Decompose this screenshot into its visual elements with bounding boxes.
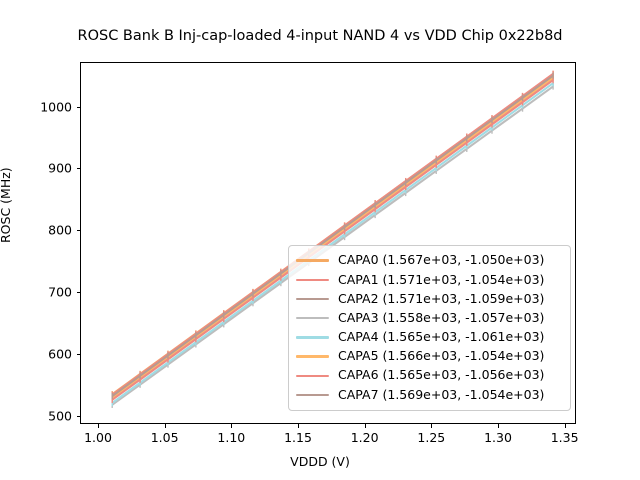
- y-axis-label: ROSC (MHz): [0, 167, 13, 243]
- x-tick-label: 1.20: [351, 430, 379, 445]
- legend-color-swatch: [296, 317, 329, 319]
- legend-label: CAPA1 (1.571e+03, -1.054e+03): [338, 274, 544, 287]
- x-tick-mark: [231, 424, 232, 428]
- legend-color-swatch: [296, 336, 329, 338]
- x-tick-mark: [498, 424, 499, 428]
- chart-title: ROSC Bank B Inj-cap-loaded 4-input NAND …: [0, 28, 640, 44]
- legend-item-capa2[interactable]: CAPA2 (1.571e+03, -1.059e+03): [296, 289, 562, 308]
- legend-color-swatch: [296, 394, 329, 396]
- x-tick-label: 1.00: [84, 430, 112, 445]
- y-tick-label: 500: [28, 408, 72, 423]
- x-tick-label: 1.30: [484, 430, 512, 445]
- legend-color-swatch: [296, 298, 329, 300]
- y-tick-label: 700: [28, 285, 72, 300]
- x-tick-label: 1.25: [417, 430, 445, 445]
- y-tick-label: 900: [28, 161, 72, 176]
- x-tick-mark: [565, 424, 566, 428]
- y-tick-label: 600: [28, 347, 72, 362]
- legend-label: CAPA5 (1.566e+03, -1.054e+03): [338, 350, 544, 363]
- x-tick-mark: [365, 424, 366, 428]
- x-tick-mark: [165, 424, 166, 428]
- legend-label: CAPA2 (1.571e+03, -1.059e+03): [338, 293, 544, 306]
- legend-color-swatch: [296, 355, 329, 357]
- x-tick-label: 1.35: [551, 430, 579, 445]
- x-tick-label: 1.15: [284, 430, 312, 445]
- x-tick-mark: [298, 424, 299, 428]
- y-tick-label: 1000: [28, 99, 72, 114]
- legend-item-capa1[interactable]: CAPA1 (1.571e+03, -1.054e+03): [296, 270, 562, 289]
- x-tick-label: 1.10: [217, 430, 245, 445]
- x-tick-mark: [431, 424, 432, 428]
- x-tick-label: 1.05: [151, 430, 179, 445]
- legend-color-swatch: [296, 375, 329, 377]
- legend-item-capa3[interactable]: CAPA3 (1.558e+03, -1.057e+03): [296, 309, 562, 328]
- x-tick-mark: [98, 424, 99, 428]
- legend-label: CAPA6 (1.565e+03, -1.056e+03): [338, 369, 544, 382]
- legend-item-capa0[interactable]: CAPA0 (1.567e+03, -1.050e+03): [296, 251, 562, 270]
- chart-legend[interactable]: CAPA0 (1.567e+03, -1.050e+03)CAPA1 (1.57…: [288, 245, 571, 411]
- legend-item-capa4[interactable]: CAPA4 (1.565e+03, -1.061e+03): [296, 328, 562, 347]
- legend-color-swatch: [296, 259, 329, 261]
- legend-item-capa5[interactable]: CAPA5 (1.566e+03, -1.054e+03): [296, 347, 562, 366]
- legend-label: CAPA3 (1.558e+03, -1.057e+03): [338, 312, 544, 325]
- legend-label: CAPA0 (1.567e+03, -1.050e+03): [338, 254, 544, 267]
- legend-color-swatch: [296, 279, 329, 281]
- legend-item-capa7[interactable]: CAPA7 (1.569e+03, -1.054e+03): [296, 385, 562, 404]
- matplotlib-figure: ROSC Bank B Inj-cap-loaded 4-input NAND …: [0, 0, 640, 480]
- legend-item-capa6[interactable]: CAPA6 (1.565e+03, -1.056e+03): [296, 366, 562, 385]
- legend-label: CAPA7 (1.569e+03, -1.054e+03): [338, 389, 544, 402]
- x-axis-label: VDDD (V): [0, 454, 640, 469]
- y-tick-label: 800: [28, 223, 72, 238]
- legend-label: CAPA4 (1.565e+03, -1.061e+03): [338, 331, 544, 344]
